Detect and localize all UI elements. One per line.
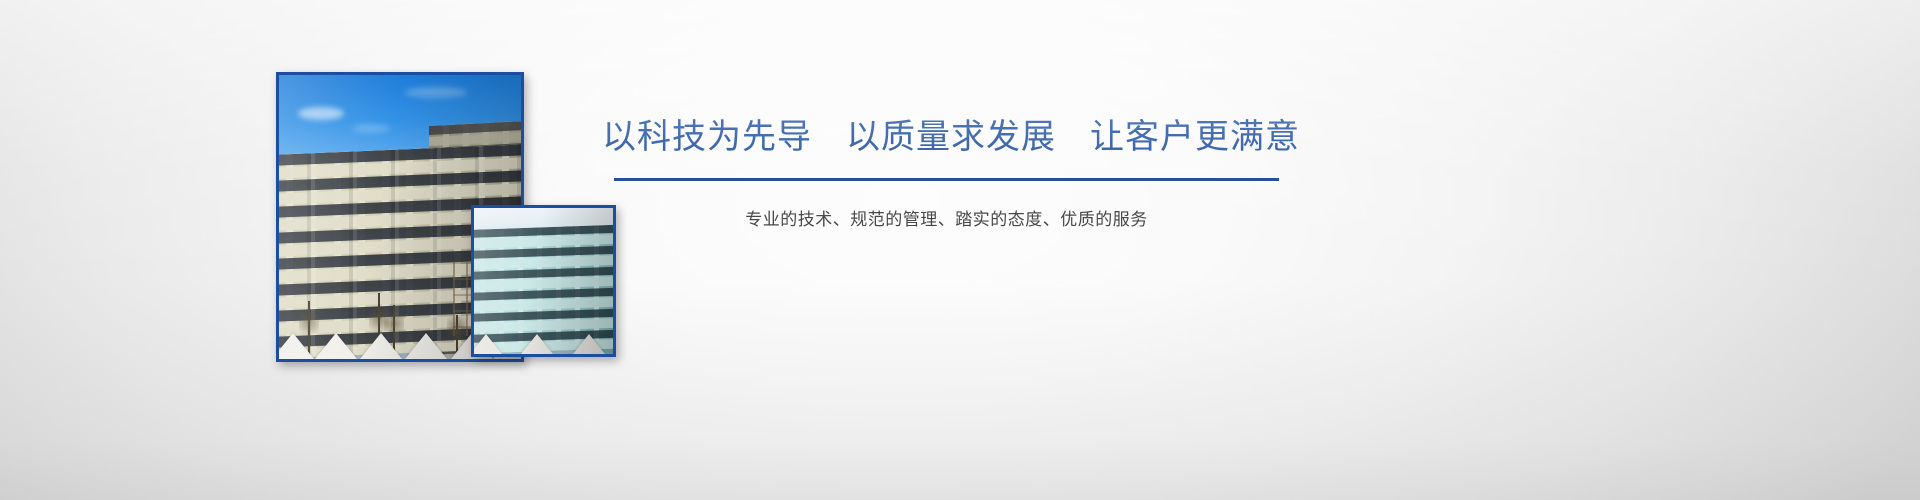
headline-segment-2: 以质量求发展 [846,117,1056,157]
secondary-building-photo[interactable] [471,205,616,357]
headline-segment-1: 以科技为先导 [602,117,812,157]
banner-text-block: 以科技为先导以质量求发展让客户更满意 专业的技术、规范的管理、踏实的态度、优质的… [600,120,1300,229]
photo-shading [474,208,613,354]
subtitle: 专业的技术、规范的管理、踏实的态度、优质的服务 [614,212,1279,229]
secondary-building-photo-content [474,208,613,354]
headline-segment-3: 让客户更满意 [1090,117,1300,157]
divider-rule [614,178,1279,181]
headline: 以科技为先导以质量求发展让客户更满意 [600,120,1300,178]
hero-banner: 以科技为先导以质量求发展让客户更满意 专业的技术、规范的管理、踏实的态度、优质的… [0,0,1920,500]
photo-group [0,0,760,500]
